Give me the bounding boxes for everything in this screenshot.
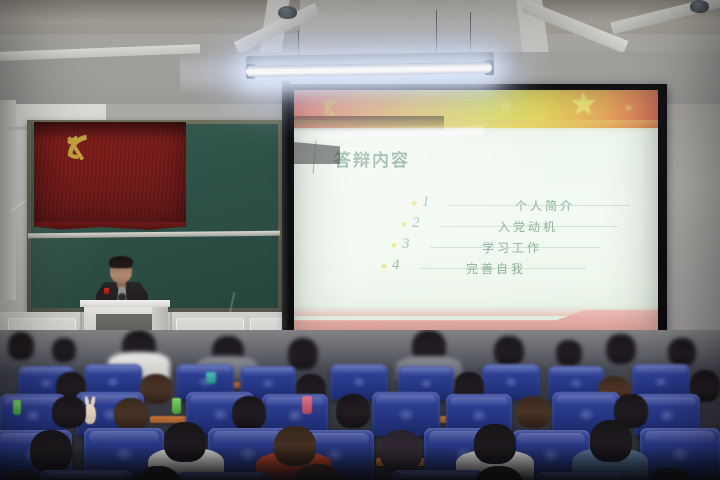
agenda-number: 1 [422,194,430,211]
seat[interactable] [392,470,484,480]
star-bullet-icon: ★ [390,240,398,251]
slide-banner-fade [294,120,658,132]
fluorescent-light [248,60,492,82]
agenda-item: ★ 4 完善自我 [390,257,640,278]
star-bullet-icon: ★ [410,198,418,209]
student-head [52,338,76,362]
lecture-hall-photo: ★ ★ ★ 答辩内容 ★ 1 个人简介 ★ 2 入党动机 [0,0,720,480]
student-head [494,336,524,366]
audience-area [0,330,720,480]
agenda-label: 入党动机 [498,218,558,235]
hanging-wire [436,10,437,68]
ceiling-speaker-icon [690,0,709,13]
presentation-slide: ★ ★ ★ 答辩内容 ★ 1 个人简介 ★ 2 入党动机 [294,90,658,340]
student-head [30,430,72,472]
agenda-label: 完善自我 [466,260,526,277]
student-head [164,422,206,462]
ceiling-panel [300,0,540,58]
student-head [380,430,422,472]
podium-top [80,300,170,307]
party-badge [104,288,109,294]
slide-star-icon: ★ [499,99,512,114]
light-tube [248,62,492,77]
student-head [590,420,632,462]
ceiling-speaker-icon [278,6,297,19]
agenda-item: ★ 2 入党动机 [390,215,640,236]
projection-screen-frame: ★ ★ ★ 答辩内容 ★ 1 个人简介 ★ 2 入党动机 [286,84,667,350]
student-head [8,332,34,360]
seat[interactable] [40,470,132,480]
water-bottle [302,396,312,414]
agenda-item: ★ 1 个人简介 [390,194,640,215]
slide-title: 答辩内容 [334,146,410,171]
student-head [288,338,318,370]
light-end-cap [485,60,494,75]
water-bottle [172,398,181,414]
agenda-number: 3 [402,236,410,253]
agenda-number: 4 [392,257,400,274]
student-head [516,396,550,428]
agenda-number: 2 [412,215,420,232]
student-head [140,374,172,404]
agenda-item: ★ 3 学习工作 [390,236,640,257]
student-head [274,426,316,466]
hammer-and-sickle-icon [56,128,100,170]
presenter-hair [109,256,133,268]
seat[interactable] [176,472,268,480]
water-bottle [206,372,216,384]
slide-star-icon: ★ [624,104,633,114]
student-head [474,424,516,464]
student-head [336,394,370,428]
agenda-label: 个人简介 [515,197,575,214]
agenda-label: 学习工作 [482,239,542,256]
student-head [606,334,636,364]
star-bullet-icon: ★ [400,219,408,230]
star-bullet-icon: ★ [380,261,388,272]
water-bottle [13,400,21,415]
slide-star-icon: ★ [570,90,597,120]
student-head [114,398,148,430]
student-head [556,340,582,366]
student-head [668,338,696,366]
student-head [232,396,266,430]
slide-hammer-and-sickle-icon [316,95,346,123]
student-head [52,396,86,428]
projection-screen: ★ ★ ★ 答辩内容 ★ 1 个人简介 ★ 2 入党动机 [294,90,658,340]
seat[interactable] [536,472,628,480]
slide-agenda-list: ★ 1 个人简介 ★ 2 入党动机 ★ 3 学习工作 [390,194,640,278]
light-end-cap [246,64,255,79]
